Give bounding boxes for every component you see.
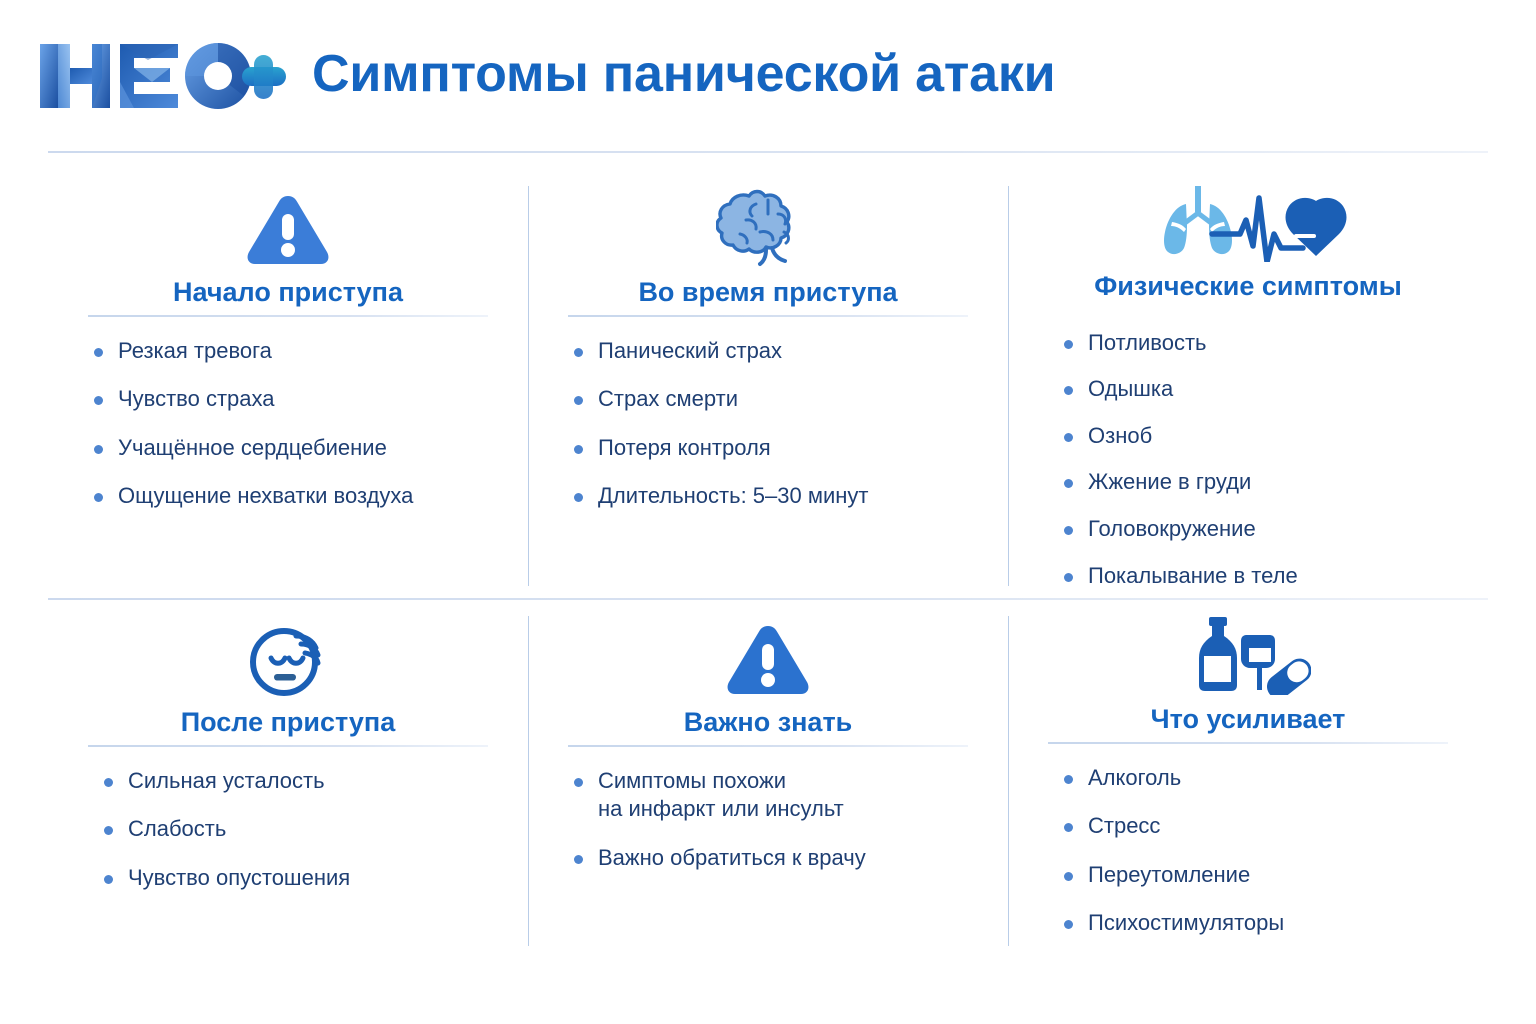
list-item: Озноб	[1062, 422, 1470, 451]
lungs-ecg-heart-icon	[1134, 182, 1362, 262]
symptom-list: Резкая тревога Чувство страха Учащённое …	[66, 337, 510, 531]
list-item: Резкая тревога	[92, 337, 510, 366]
symptom-list: Потливость Одышка Озноб Жжение в груди Г…	[1026, 329, 1470, 609]
card-nachalo-pristupa: Начало приступа Резкая тревога Чувство с…	[48, 168, 528, 598]
brain-icon	[716, 182, 820, 268]
list-item: Чувство опустошения	[102, 864, 510, 893]
page-title: Симптомы панической атаки	[312, 48, 1055, 104]
bottle-pills-icon	[1185, 612, 1311, 695]
tired-face-icon	[239, 612, 337, 698]
title-underline	[568, 315, 968, 317]
list-item: Длительность: 5–30 минут	[572, 482, 990, 511]
list-item: Головокружение	[1062, 515, 1470, 544]
list-item: Важно обратиться к врачу	[572, 844, 990, 873]
card-fizicheskie-simptomy: Физические симптомы Потливость Одышка Оз…	[1008, 168, 1488, 598]
infographic-page: Симптомы панической атаки Начало приступ…	[0, 0, 1536, 1024]
symptom-list: Алкоголь Стресс Переутомление Психостиму…	[1026, 764, 1470, 958]
cards-row-bottom: После приступа Сильная усталость Слабост…	[48, 598, 1488, 958]
list-item: Жжение в груди	[1062, 468, 1470, 497]
card-title: Что усиливает	[1151, 705, 1346, 735]
card-vo-vremya-pristupa: Во время приступа Панический страх Страх…	[528, 168, 1008, 598]
symptom-list: Симптомы похожи на инфаркт или инсульт В…	[546, 767, 990, 893]
cards-row-top: Начало приступа Резкая тревога Чувство с…	[48, 168, 1488, 598]
card-title: Начало приступа	[173, 278, 403, 308]
list-item: Потеря контроля	[572, 434, 990, 463]
title-underline	[568, 745, 968, 747]
card-title: После приступа	[181, 708, 396, 738]
card-title: Во время приступа	[638, 278, 897, 308]
list-item: Потливость	[1062, 329, 1470, 358]
list-item: Страх смерти	[572, 385, 990, 414]
title-underline	[1048, 742, 1448, 744]
symptom-list: Сильная усталость Слабость Чувство опуст…	[66, 767, 510, 913]
list-item: Симптомы похожи на инфаркт или инсульт	[572, 767, 990, 824]
card-title: Физические симптомы	[1094, 272, 1402, 302]
symptom-list: Панический страх Страх смерти Потеря кон…	[546, 337, 990, 531]
card-chto-usilivaet: Что усиливает Алкоголь Стресс Переутомле…	[1008, 598, 1488, 958]
header-divider	[48, 151, 1488, 153]
card-posle-pristupa: После приступа Сильная усталость Слабост…	[48, 598, 528, 958]
list-item: Переутомление	[1062, 861, 1470, 890]
list-item: Стресс	[1062, 812, 1470, 841]
neo-plus-logo	[36, 38, 288, 114]
list-item: Психостимуляторы	[1062, 909, 1470, 938]
title-underline	[88, 745, 488, 747]
list-item: Панический страх	[572, 337, 990, 366]
list-item: Учащённое сердцебиение	[92, 434, 510, 463]
title-underline	[88, 315, 488, 317]
card-vazhno-znat: Важно знать Симптомы похожи на инфаркт и…	[528, 598, 1008, 958]
list-item: Ощущение нехватки воздуха	[92, 482, 510, 511]
list-item: Одышка	[1062, 375, 1470, 404]
list-item: Покалывание в теле	[1062, 562, 1470, 591]
list-item: Сильная усталость	[102, 767, 510, 796]
warning-triangle-icon	[725, 612, 811, 698]
cards-grid: Начало приступа Резкая тревога Чувство с…	[48, 168, 1488, 968]
card-title: Важно знать	[684, 708, 853, 738]
warning-triangle-icon	[245, 182, 331, 268]
list-item: Слабость	[102, 815, 510, 844]
list-item: Алкоголь	[1062, 764, 1470, 793]
list-item: Чувство страха	[92, 385, 510, 414]
page-header: Симптомы панической атаки	[0, 0, 1536, 152]
